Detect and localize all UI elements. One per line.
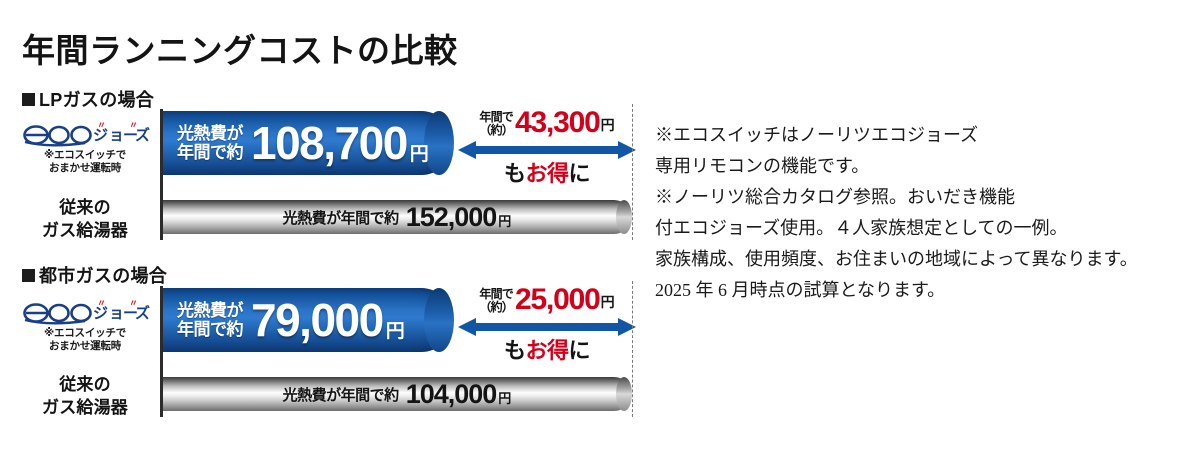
savings-callout-lp: 年間で （約） 43,300 円 もお得に [458,108,636,186]
footnote-line-1: ※エコスイッチはノーリツエコジョーズ [655,120,1185,151]
savings-suffix-3-city: に [569,338,591,363]
savings-suffix-2-city: お得 [525,338,568,363]
eco-cost-bar-city: 光熱費が 年間で約 79,000 円 [163,288,453,352]
savings-unit-lp: 円 [601,115,615,135]
svg-text:〃: 〃 [129,298,138,308]
infographic-root: 年間ランニングコストの比較 LPガスの場合 ジ ョ ー ズ [0,0,1200,450]
footnote-line-6: 2025 年 6 月時点の試算となります。 [655,275,1185,306]
eco-label-city: ジ ョ ー ズ 〃 〃 ※エコスイッチで おまかせ運転時 [10,296,160,353]
legacy-label-line2-city: ガス給湯器 [10,396,160,419]
legacy-bar-amount-lp: 152,000 [406,204,497,231]
legacy-label-city: 従来の ガス給湯器 [10,373,160,419]
savings-prefix-city: 年間で （約） [479,288,513,314]
savings-amount-row-lp: 年間で （約） 43,300 円 [458,108,636,138]
footnote-line-3: ※ノーリツ総合カタログ参照。おいだき機能 [655,182,1185,213]
savings-amount-row-city: 年間で （約） 25,000 円 [458,285,636,315]
savings-suffix-2-lp: お得 [525,161,568,186]
legacy-bar-amount-city: 104,000 [406,381,497,408]
legacy-label-lp: 従来の ガス給湯器 [10,196,160,242]
legacy-label-line2-lp: ガス給湯器 [10,219,160,242]
savings-amount-city: 25,000 [515,285,600,315]
legacy-cost-bar-lp: 光熱費が年間で約 152,000 円 [163,200,631,234]
savings-callout-city: 年間で （約） 25,000 円 もお得に [458,285,636,363]
svg-text:〃: 〃 [97,120,106,130]
savings-suffix-1-city: も [504,338,526,363]
eco-bar-caption-city: 光熱費が 年間で約 [177,301,243,339]
legacy-bar-unit-lp: 円 [498,211,511,230]
legacy-bar-unit-city: 円 [498,388,511,407]
svg-text:ョ: ョ [109,127,124,144]
savings-arrow-city [458,316,636,338]
eco-bar-caption-line2-lp: 年間で約 [177,143,243,162]
svg-text:〃: 〃 [97,298,106,308]
eco-bar-caption-lp: 光熱費が 年間で約 [177,124,243,162]
savings-amount-lp: 43,300 [515,108,600,138]
eco-label-lp: ジ ョ ー ズ 〃 〃 ※エコスイッチで おまかせ運転時 [10,118,160,175]
eco-note-line1-lp: ※エコスイッチで [10,149,160,162]
savings-suffix-3-lp: に [569,161,591,186]
eco-bar-caption-line1-lp: 光熱費が [177,124,243,143]
legacy-bar-caption-city: 光熱費が年間で約 [283,384,399,405]
eco-note-line1-city: ※エコスイッチで [10,327,160,340]
footnotes: ※エコスイッチはノーリツエコジョーズ 専用リモコンの機能です。 ※ノーリツ総合カ… [655,120,1185,306]
bullet-square-icon-2 [22,269,35,282]
eco-bar-caption-line1-city: 光熱費が [177,301,243,320]
ecojoz-logo-city: ジ ョ ー ズ 〃 〃 [19,296,151,326]
savings-arrow-lp [458,139,636,161]
eco-note-line2-lp: おまかせ運転時 [10,162,160,175]
eco-bar-amount-lp: 108,700 [251,120,407,166]
legacy-cost-bar-city: 光熱費が年間で約 104,000 円 [163,377,631,411]
eco-bar-caption-line2-city: 年間で約 [177,320,243,339]
legacy-bar-caption-lp: 光熱費が年間で約 [283,207,399,228]
savings-suffix-1-lp: も [504,161,526,186]
bullet-square-icon [22,93,35,106]
savings-prefix-line2-city: （約） [479,301,513,314]
savings-prefix-lp: 年間で （約） [479,111,513,137]
savings-unit-city: 円 [601,292,615,312]
savings-suffix-city: もお得に [458,339,636,363]
footnote-line-2: 専用リモコンの機能です。 [655,151,1185,182]
eco-bar-unit-lp: 円 [410,139,429,166]
eco-cost-bar-lp: 光熱費が 年間で約 108,700 円 [163,111,453,175]
legacy-label-line1-lp: 従来の [10,196,160,219]
section-heading-city-label: 都市ガスの場合 [39,266,167,286]
divider-dashed-lp [632,104,633,240]
section-heading-lp: LPガスの場合 [22,86,154,112]
svg-text:ョ: ョ [109,305,124,322]
eco-bar-unit-city: 円 [386,316,405,343]
eco-note-line2-city: おまかせ運転時 [10,340,160,353]
page-title: 年間ランニングコストの比較 [22,24,458,72]
legacy-label-line1-city: 従来の [10,373,160,396]
footnote-line-5: 家族構成、使用頻度、お住まいの地域によって異なります。 [655,244,1185,275]
savings-suffix-lp: もお得に [458,162,636,186]
savings-prefix-line2-lp: （約） [479,124,513,137]
eco-bar-amount-city: 79,000 [251,297,383,343]
section-heading-lp-label: LPガスの場合 [39,90,154,110]
divider-dashed-city [632,281,633,417]
svg-text:〃: 〃 [129,120,138,130]
ecojoz-logo-lp: ジ ョ ー ズ 〃 〃 [19,118,151,148]
footnote-line-4: 付エコジョーズ使用。４人家族想定としての一例。 [655,213,1185,244]
section-heading-city: 都市ガスの場合 [22,262,167,288]
